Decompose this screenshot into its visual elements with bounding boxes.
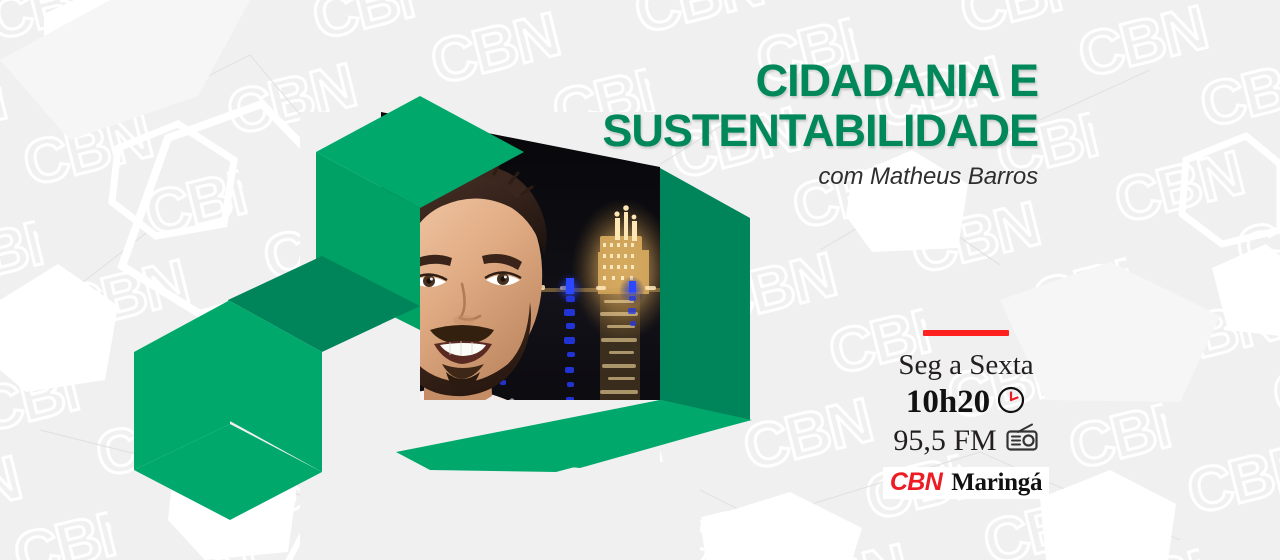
cbn-city-name: Maringá [951,470,1042,495]
schedule-days-text: Seg a Sexta [898,349,1033,381]
program-title-block: CIDADANIA E SUSTENTABILIDADE com Matheus… [602,56,1038,191]
cbn-brand-mark: CBN [890,470,942,495]
clock-icon [996,385,1026,420]
radio-program-banner: CBN CBN [0,0,1280,560]
schedule-frequency-row: 95,5 FM [872,423,1060,458]
title-line-2: SUSTENTABILIDADE [602,106,1038,156]
radio-icon [1005,423,1039,458]
schedule-time-text: 10h20 [906,383,990,421]
schedule-frequency-text: 95,5 FM [893,423,996,458]
schedule-info-block: Seg a Sexta 10h20 95,5 FM [872,330,1060,499]
schedule-time-row: 10h20 [872,383,1060,421]
cbn-maringa-logo: CBN Maringá [883,467,1049,499]
program-host-subtitle: com Matheus Barros [602,163,1038,191]
red-divider-rule [923,330,1009,336]
title-line-1: CIDADANIA E [602,56,1038,106]
schedule-days-row: Seg a Sexta [872,349,1060,381]
